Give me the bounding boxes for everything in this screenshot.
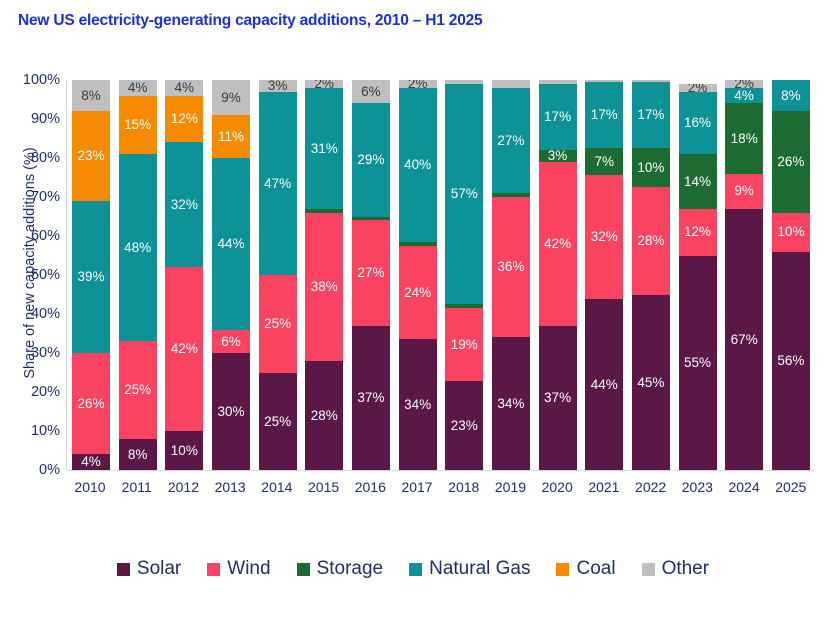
bar-segment-label: 8% <box>128 448 148 462</box>
bar-segment-natural-gas[interactable]: 48% <box>119 154 157 341</box>
x-axis-tick-label: 2014 <box>258 471 296 495</box>
bar-segment-natural-gas[interactable]: 4% <box>725 88 763 104</box>
bar-column[interactable]: 25%25%47%3% <box>259 80 297 470</box>
bar-segment-natural-gas[interactable]: 31% <box>305 88 343 209</box>
x-axis-tick-label: 2019 <box>491 471 529 495</box>
y-axis-tick-label: 70% <box>16 189 60 205</box>
legend-swatch-icon <box>117 563 130 576</box>
bar-group: 4%26%39%23%8%8%25%48%15%4%10%42%32%12%4%… <box>68 80 814 470</box>
bar-segment-label: 27% <box>357 266 384 280</box>
bar-segment-other[interactable]: 6% <box>352 80 390 103</box>
bar-segment-other[interactable]: 2% <box>399 80 437 88</box>
x-axis-ticks: 2010201120122013201420152016201720182019… <box>67 470 814 495</box>
bar-segment-wind[interactable]: 32% <box>585 175 623 299</box>
y-axis-tick-label: 80% <box>16 150 60 166</box>
plot-area: 4%26%39%23%8%8%25%48%15%4%10%42%32%12%4%… <box>66 80 814 470</box>
bar-segment-label: 12% <box>684 225 711 239</box>
bar-segment-label: 30% <box>217 405 244 419</box>
bar-segment-solar[interactable]: 4% <box>72 454 110 470</box>
bar-segment-label: 17% <box>544 110 571 124</box>
bar-segment-storage[interactable]: 3% <box>539 150 577 162</box>
bar-segment-label: 18% <box>731 132 758 146</box>
bar-segment-label: 15% <box>124 118 151 132</box>
legend-swatch-icon <box>556 563 569 576</box>
bar-segment-label: 25% <box>264 415 291 429</box>
legend-swatch-icon <box>207 563 220 576</box>
bar-segment-solar[interactable]: 30% <box>212 353 250 470</box>
legend-label: Solar <box>137 558 181 580</box>
y-axis-tick-label: 30% <box>16 345 60 361</box>
bar-segment-other[interactable]: 4% <box>119 80 157 96</box>
bar-segment-solar[interactable]: 37% <box>352 326 390 470</box>
bar-segment-solar[interactable]: 28% <box>305 361 343 470</box>
bar-segment-label: 2% <box>734 80 754 88</box>
bar-segment-label: 4% <box>81 455 101 469</box>
bar-segment-label: 12% <box>171 112 198 126</box>
x-axis-tick-label: 2015 <box>305 471 343 495</box>
bar-segment-solar[interactable]: 25% <box>259 373 297 471</box>
legend-swatch-icon <box>297 563 310 576</box>
bar-segment-wind[interactable]: 19% <box>445 308 483 381</box>
bar-segment-natural-gas[interactable]: 29% <box>352 103 390 216</box>
bar-segment-wind[interactable]: 27% <box>352 220 390 325</box>
bar-segment-label: 28% <box>637 234 664 248</box>
bar-column[interactable]: 37%27%29%6% <box>352 80 390 470</box>
bar-segment-label: 8% <box>81 89 101 103</box>
bar-segment-label: 44% <box>591 378 618 392</box>
bar-segment-label: 48% <box>124 241 151 255</box>
x-axis-tick-label: 2012 <box>164 471 202 495</box>
bar-column[interactable]: 45%28%10%17% <box>632 80 670 470</box>
bar-segment-natural-gas[interactable]: 27% <box>492 88 530 193</box>
bar-segment-natural-gas[interactable]: 47% <box>259 92 297 275</box>
y-axis-tick-label: 10% <box>16 423 60 439</box>
bar-segment-label: 39% <box>77 270 104 284</box>
bar-segment-label: 8% <box>781 89 801 103</box>
bar-segment-label: 32% <box>171 198 198 212</box>
x-axis-tick-label: 2018 <box>445 471 483 495</box>
bar-segment-label: 4% <box>175 81 195 95</box>
bar-segment-label: 2% <box>688 84 708 92</box>
bar-segment-label: 3% <box>548 150 568 162</box>
bar-column[interactable]: 37%42%3%17% <box>539 80 577 470</box>
legend-label: Coal <box>576 558 615 580</box>
bar-segment-storage[interactable]: 14% <box>679 154 717 209</box>
bar-segment-wind[interactable]: 42% <box>539 162 577 326</box>
bar-segment-label: 16% <box>684 116 711 130</box>
bar-segment-label: 56% <box>777 354 804 368</box>
bar-segment-other[interactable] <box>492 80 530 88</box>
bar-segment-natural-gas[interactable]: 17% <box>632 82 670 148</box>
bar-segment-wind[interactable]: 24% <box>399 246 437 339</box>
x-axis-tick-label: 2017 <box>398 471 436 495</box>
bar-segment-other[interactable]: 2% <box>305 80 343 88</box>
bar-segment-label: 4% <box>128 81 148 95</box>
bar-segment-label: 6% <box>221 335 241 349</box>
y-axis-tick-label: 20% <box>16 384 60 400</box>
bar-segment-solar[interactable]: 23% <box>445 381 483 470</box>
bar-segment-solar[interactable]: 44% <box>585 299 623 470</box>
legend-item-storage[interactable]: Storage <box>297 558 384 580</box>
x-axis-tick-label: 2011 <box>118 471 156 495</box>
bar-segment-label: 26% <box>77 397 104 411</box>
bar-segment-label: 27% <box>497 134 524 148</box>
bar-segment-label: 67% <box>731 333 758 347</box>
bar-segment-label: 19% <box>451 338 478 352</box>
y-axis-tick-label: 50% <box>16 267 60 283</box>
y-axis-tick-label: 90% <box>16 111 60 127</box>
bar-segment-label: 42% <box>171 342 198 356</box>
bar-segment-natural-gas[interactable]: 16% <box>679 92 717 154</box>
bar-segment-label: 38% <box>311 280 338 294</box>
bar-segment-label: 47% <box>264 177 291 191</box>
bar-segment-label: 32% <box>591 230 618 244</box>
bar-segment-label: 44% <box>217 237 244 251</box>
legend-swatch-icon <box>409 563 422 576</box>
bar-segment-label: 57% <box>451 187 478 201</box>
bar-column[interactable]: 23%19%57% <box>445 80 483 470</box>
bar-segment-label: 34% <box>497 397 524 411</box>
x-axis-tick-label: 2010 <box>71 471 109 495</box>
bar-segment-label: 2% <box>315 80 335 88</box>
bar-segment-label: 40% <box>404 158 431 172</box>
bar-segment-label: 55% <box>684 356 711 370</box>
bar-column[interactable]: 56%10%26%8% <box>772 80 810 470</box>
bar-segment-storage[interactable]: 7% <box>585 148 623 175</box>
bar-segment-other[interactable]: 2% <box>679 84 717 92</box>
bar-segment-label: 37% <box>544 391 571 405</box>
bar-column[interactable]: 55%12%14%16%2% <box>679 80 717 470</box>
bar-segment-label: 31% <box>311 142 338 156</box>
x-axis-tick-label: 2013 <box>211 471 249 495</box>
bar-segment-label: 28% <box>311 409 338 423</box>
bar-segment-wind[interactable]: 42% <box>165 267 203 431</box>
bar-segment-solar[interactable]: 56% <box>772 252 810 470</box>
bar-segment-wind[interactable]: 38% <box>305 213 343 361</box>
bar-column[interactable]: 10%42%32%12%4% <box>165 80 203 470</box>
bar-segment-natural-gas[interactable]: 40% <box>399 88 437 242</box>
legend-label: Storage <box>317 558 384 580</box>
legend-item-other[interactable]: Other <box>642 558 710 580</box>
legend-item-natural-gas[interactable]: Natural Gas <box>409 558 530 580</box>
legend-item-wind[interactable]: Wind <box>207 558 270 580</box>
legend-item-coal[interactable]: Coal <box>556 558 615 580</box>
y-axis-tick-label: 100% <box>16 72 60 88</box>
bar-segment-other[interactable]: 4% <box>165 80 203 96</box>
bar-segment-other[interactable]: 2% <box>725 80 763 88</box>
bar-column[interactable]: 44%32%7%17% <box>585 80 623 470</box>
bar-segment-coal[interactable]: 15% <box>119 96 157 155</box>
legend-label: Wind <box>227 558 270 580</box>
bar-segment-label: 25% <box>264 317 291 331</box>
bar-segment-natural-gas[interactable]: 32% <box>165 142 203 267</box>
y-axis-ticks: 0%10%20%30%40%50%60%70%80%90%100% <box>16 80 60 470</box>
bar-segment-label: 26% <box>777 155 804 169</box>
bar-column[interactable]: 34%24%40%2% <box>399 80 437 470</box>
bar-segment-storage[interactable]: 10% <box>632 148 670 187</box>
bar-segment-label: 10% <box>171 444 198 458</box>
bar-segment-solar[interactable]: 37% <box>539 326 577 470</box>
bar-segment-label: 14% <box>684 175 711 189</box>
bar-segment-label: 23% <box>451 419 478 433</box>
bar-segment-label: 37% <box>357 391 384 405</box>
x-axis-tick-label: 2024 <box>725 471 763 495</box>
bar-segment-label: 3% <box>268 80 288 92</box>
bar-segment-wind[interactable]: 26% <box>72 353 110 454</box>
bar-segment-label: 9% <box>734 184 754 198</box>
bar-segment-label: 29% <box>357 153 384 167</box>
bar-column[interactable]: 28%38%31%2% <box>305 80 343 470</box>
bar-segment-label: 17% <box>637 108 664 122</box>
bar-segment-label: 9% <box>221 91 241 105</box>
bar-segment-solar[interactable]: 45% <box>632 295 670 470</box>
x-axis-tick-label: 2025 <box>772 471 810 495</box>
bar-segment-label: 34% <box>404 398 431 412</box>
bar-segment-label: 25% <box>124 383 151 397</box>
bar-segment-other[interactable]: 8% <box>72 80 110 111</box>
bar-segment-wind[interactable]: 25% <box>119 341 157 439</box>
bar-segment-label: 10% <box>777 225 804 239</box>
legend-swatch-icon <box>642 563 655 576</box>
bar-segment-wind[interactable]: 25% <box>259 275 297 373</box>
bar-segment-other[interactable]: 9% <box>212 80 250 115</box>
x-axis-tick-label: 2023 <box>678 471 716 495</box>
page-title: New US electricity-generating capacity a… <box>18 12 482 30</box>
bar-segment-solar[interactable]: 34% <box>492 337 530 470</box>
bar-segment-wind[interactable]: 12% <box>679 209 717 256</box>
bar-segment-coal[interactable]: 23% <box>72 111 110 201</box>
y-axis-tick-label: 40% <box>16 306 60 322</box>
bar-segment-wind[interactable]: 36% <box>492 197 530 337</box>
bar-column[interactable]: 4%26%39%23%8% <box>72 80 110 470</box>
chart-legend: SolarWindStorageNatural GasCoalOther <box>0 558 826 580</box>
bar-segment-label: 7% <box>594 155 614 169</box>
bar-segment-natural-gas[interactable]: 8% <box>772 80 810 111</box>
bar-segment-label: 17% <box>591 108 618 122</box>
bar-segment-natural-gas[interactable]: 39% <box>72 201 110 353</box>
x-axis-tick-label: 2016 <box>351 471 389 495</box>
y-axis-tick-label: 0% <box>16 462 60 478</box>
bar-segment-label: 11% <box>218 130 244 144</box>
bar-column[interactable]: 30%6%44%11%9% <box>212 80 250 470</box>
bar-segment-solar[interactable]: 34% <box>399 339 437 470</box>
bar-segment-label: 36% <box>497 260 524 274</box>
legend-label: Natural Gas <box>429 558 530 580</box>
bar-segment-label: 10% <box>637 161 664 175</box>
bar-segment-coal[interactable]: 12% <box>165 96 203 143</box>
bar-segment-label: 45% <box>637 376 664 390</box>
bar-segment-solar[interactable]: 55% <box>679 256 717 471</box>
bar-segment-other[interactable]: 3% <box>259 80 297 92</box>
bar-segment-solar[interactable]: 67% <box>725 209 763 470</box>
bar-segment-label: 24% <box>404 286 431 300</box>
bar-segment-solar[interactable]: 10% <box>165 431 203 470</box>
bar-segment-coal[interactable]: 11% <box>212 115 250 158</box>
y-axis-tick-label: 60% <box>16 228 60 244</box>
bar-segment-natural-gas[interactable]: 44% <box>212 158 250 330</box>
bar-column[interactable]: 8%25%48%15%4% <box>119 80 157 470</box>
legend-label: Other <box>662 558 710 580</box>
bar-segment-wind[interactable]: 9% <box>725 174 763 209</box>
bar-segment-label: 4% <box>734 89 754 103</box>
bar-segment-storage[interactable]: 18% <box>725 103 763 173</box>
legend-item-solar[interactable]: Solar <box>117 558 181 580</box>
bar-segment-wind[interactable]: 6% <box>212 330 250 353</box>
bar-segment-label: 23% <box>77 149 104 163</box>
bar-segment-wind[interactable]: 10% <box>772 213 810 252</box>
bar-segment-label: 6% <box>361 85 381 99</box>
x-axis-tick-label: 2020 <box>538 471 576 495</box>
bar-segment-natural-gas[interactable]: 17% <box>539 84 577 150</box>
bar-segment-label: 2% <box>408 80 428 88</box>
bar-segment-solar[interactable]: 8% <box>119 439 157 470</box>
bar-column[interactable]: 67%9%18%4%2% <box>725 80 763 470</box>
bar-segment-natural-gas[interactable]: 17% <box>585 82 623 148</box>
bar-segment-natural-gas[interactable]: 57% <box>445 84 483 304</box>
bar-segment-label: 42% <box>544 237 571 251</box>
bar-column[interactable]: 34%36%27% <box>492 80 530 470</box>
x-axis-tick-label: 2021 <box>585 471 623 495</box>
bar-segment-storage[interactable]: 26% <box>772 111 810 212</box>
bar-segment-wind[interactable]: 28% <box>632 187 670 296</box>
x-axis-tick-label: 2022 <box>632 471 670 495</box>
chart-plot-wrapper: Share of new capacity additions (%) 0%10… <box>0 80 826 480</box>
